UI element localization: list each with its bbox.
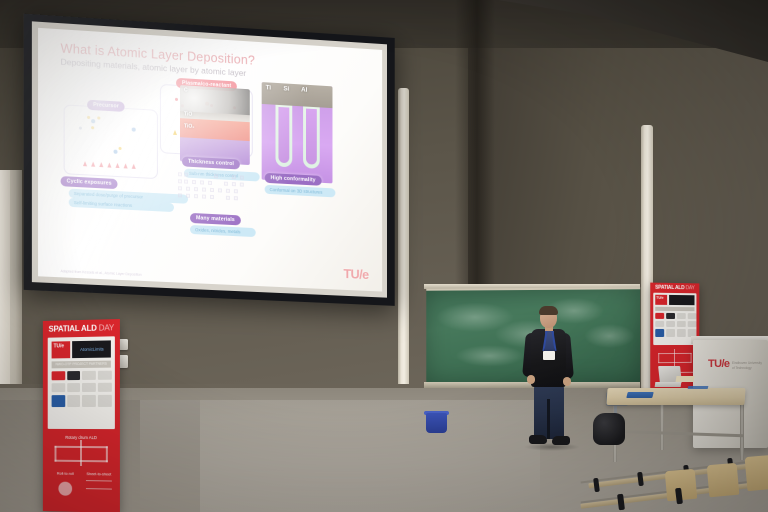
- person-hand-left: [527, 375, 535, 384]
- presentation-slide: What is Atomic Layer Deposition? Deposit…: [38, 28, 382, 292]
- tue-logo-slide: TU/e: [343, 266, 368, 282]
- blue-crate: [426, 413, 447, 433]
- banner-right-tue-logo: TU/e: [656, 296, 663, 300]
- slide-caption-materials: Oxides, nitrides, metals: [190, 225, 256, 237]
- banner-right-title-day: DAY: [686, 285, 695, 291]
- person-shadow: [524, 443, 580, 451]
- element-label-si: Si: [283, 85, 289, 92]
- slide-label-thickness: Thickness control: [182, 156, 240, 169]
- banner-left-partners-header: NWO-OTP PROJECT PARTNERS: [52, 362, 111, 367]
- periodic-table-graphic: [178, 172, 252, 210]
- element-label-ti: Ti: [266, 84, 272, 91]
- floor-reflection: [140, 400, 540, 512]
- banner-left-partner-logo: AtomicLimits: [73, 346, 111, 352]
- slide-label-cyclic: Cyclic exposures: [61, 176, 118, 189]
- projection-screen-mat: What is Atomic Layer Deposition? Deposit…: [32, 21, 387, 297]
- banner-spatial-ald-day-left: SPATIAL ALD DAY TU/e AtomicLimits NWO-OT…: [43, 319, 120, 512]
- banner-left-tue-logo: TU/e: [54, 343, 65, 349]
- person-hand-right: [563, 377, 571, 386]
- slide-caption-conformality: Conformal on 3D structures: [265, 185, 336, 198]
- blue-folder: [626, 392, 653, 398]
- lecture-seating: [580, 448, 768, 512]
- projection-screen-frame: What is Atomic Layer Deposition? Deposit…: [24, 14, 395, 306]
- person-shoe-left: [529, 435, 547, 444]
- person-leg-gap: [547, 399, 550, 439]
- table-leg-mid: [660, 400, 664, 450]
- banner-left-title-day: DAY: [99, 323, 114, 332]
- wall-switch-upper[interactable]: [119, 339, 128, 350]
- lecture-hall-scene: What is Atomic Layer Deposition? Deposit…: [0, 0, 768, 512]
- slide-label-materials: Many materials: [190, 213, 241, 226]
- presenter-person: [518, 307, 580, 452]
- wall-pillar-left: [398, 88, 409, 388]
- lecture-seat[interactable]: [707, 463, 740, 497]
- stack-label-tio: TiO: [184, 111, 192, 117]
- banner-right-title: SPATIAL ALD: [655, 285, 684, 291]
- slide-footnote: Adapted from Kessels et al., Atomic Laye…: [61, 269, 142, 277]
- backpack: [593, 413, 625, 445]
- banner-left-caption-left: Roll-to-roll: [51, 472, 80, 476]
- element-label-al: Al: [301, 86, 307, 93]
- podium-tue-logo: TU/e: [708, 358, 729, 370]
- person-hair: [539, 306, 558, 315]
- precursor-panel: [64, 104, 158, 179]
- banner-left-title: SPATIAL ALD: [49, 324, 97, 334]
- laptop-keyboard: [655, 382, 682, 387]
- banner-left-caption-right: Sheet-to-sheet: [82, 472, 116, 477]
- stack-label-tio2: TiO₂: [184, 123, 194, 130]
- slide-label-conformality: High conformality: [265, 173, 322, 186]
- podium-subtitle: Eindhoven University of Technology: [732, 361, 764, 371]
- name-badge: [543, 351, 555, 360]
- film-stack-image: C TiO TiO₂: [180, 85, 250, 165]
- wall-switch-lower[interactable]: [119, 355, 128, 368]
- stack-label-c: C: [184, 87, 188, 93]
- lecture-seat[interactable]: [745, 455, 768, 491]
- conformality-tem-image: Ti Si Al: [262, 82, 333, 183]
- blue-cable: [688, 386, 709, 389]
- person-shoe-right: [552, 436, 570, 445]
- slide-label-precursor: Precursor: [87, 100, 125, 112]
